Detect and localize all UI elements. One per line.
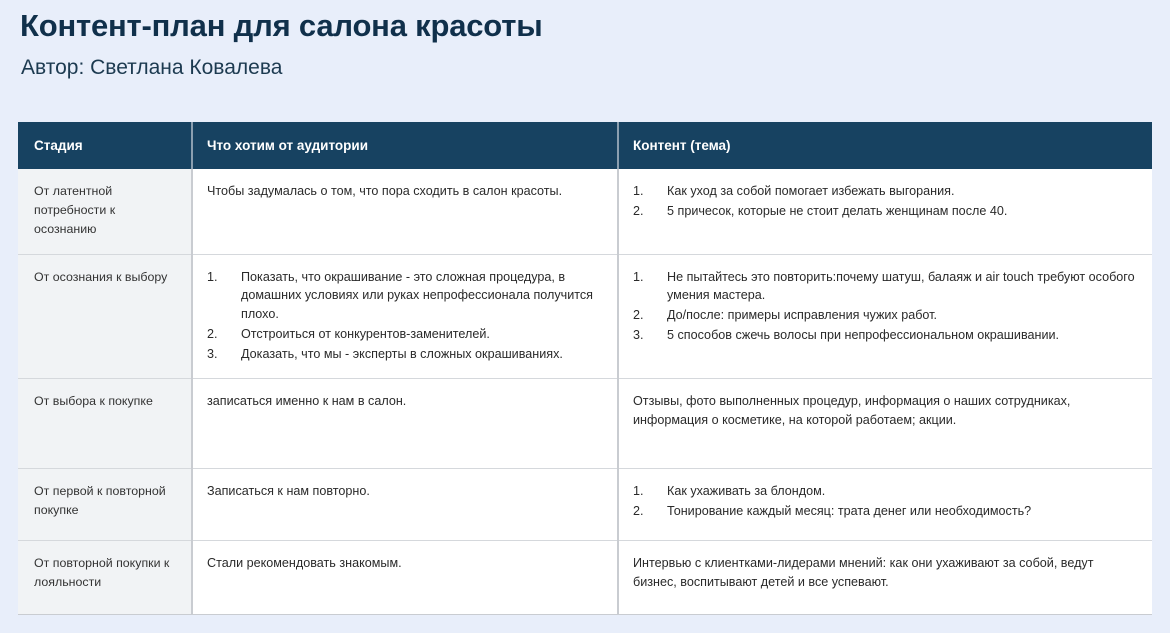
cell-want: Показать, что окрашивание - это сложная …	[192, 254, 618, 378]
content-plan-table-wrapper: Стадия Что хотим от аудитории Контент (т…	[18, 122, 1152, 615]
table-header: Стадия Что хотим от аудитории Контент (т…	[18, 122, 1152, 169]
table-row: От латентной потребности к осознанию Что…	[18, 169, 1152, 254]
table-row: От осознания к выбору Показать, что окра…	[18, 254, 1152, 378]
want-list: Показать, что окрашивание - это сложная …	[207, 268, 603, 364]
page-title: Контент-план для салона красоты	[20, 8, 543, 44]
list-item: Тонирование каждый месяц: трата денег ил…	[633, 502, 1138, 521]
cell-stage: От осознания к выбору	[18, 254, 192, 378]
list-item: Показать, что окрашивание - это сложная …	[207, 268, 603, 325]
list-item: Отстроиться от конкурентов-заменителей.	[207, 325, 603, 344]
cell-content: Не пытайтесь это повторить:почему шатуш,…	[618, 254, 1152, 378]
content-list: Как уход за собой помогает избежать выго…	[633, 182, 1138, 221]
cell-content: Отзывы, фото выполненных процедур, инфор…	[618, 378, 1152, 468]
table-row: От первой к повторной покупке Записаться…	[18, 468, 1152, 540]
list-item: Доказать, что мы - эксперты в сложных ок…	[207, 345, 603, 364]
cell-want: записаться именно к нам в салон.	[192, 378, 618, 468]
cell-want: Стали рекомендовать знакомым.	[192, 540, 618, 614]
list-item: До/после: примеры исправления чужих рабо…	[633, 306, 1138, 325]
cell-stage: От латентной потребности к осознанию	[18, 169, 192, 254]
cell-content: Как уход за собой помогает избежать выго…	[618, 169, 1152, 254]
cell-want: Чтобы задумалась о том, что пора сходить…	[192, 169, 618, 254]
list-item: Не пытайтесь это повторить:почему шатуш,…	[633, 268, 1138, 306]
cell-stage: От выбора к покупке	[18, 378, 192, 468]
table-body: От латентной потребности к осознанию Что…	[18, 169, 1152, 614]
table-row: От выбора к покупке записаться именно к …	[18, 378, 1152, 468]
content-text: Интервью с клиентками-лидерами мнений: к…	[633, 554, 1138, 592]
list-item: Как ухаживать за блондом.	[633, 482, 1138, 501]
column-header-content: Контент (тема)	[618, 122, 1152, 169]
cell-want: Записаться к нам повторно.	[192, 468, 618, 540]
page-author: Автор: Светлана Ковалева	[21, 56, 282, 80]
content-list: Не пытайтесь это повторить:почему шатуш,…	[633, 268, 1138, 346]
list-item: Как уход за собой помогает избежать выго…	[633, 182, 1138, 201]
cell-stage: От повторной покупки к лояльности	[18, 540, 192, 614]
content-plan-table: Стадия Что хотим от аудитории Контент (т…	[18, 122, 1152, 615]
cell-stage: От первой к повторной покупке	[18, 468, 192, 540]
list-item: 5 способов сжечь волосы при непрофессион…	[633, 326, 1138, 345]
table-row: От повторной покупки к лояльности Стали …	[18, 540, 1152, 614]
column-header-stage: Стадия	[18, 122, 192, 169]
table-header-row: Стадия Что хотим от аудитории Контент (т…	[18, 122, 1152, 169]
content-text: Отзывы, фото выполненных процедур, инфор…	[633, 392, 1138, 430]
want-text: Записаться к нам повторно.	[207, 482, 603, 501]
cell-content: Интервью с клиентками-лидерами мнений: к…	[618, 540, 1152, 614]
content-list: Как ухаживать за блондом. Тонирование ка…	[633, 482, 1138, 521]
want-text: Стали рекомендовать знакомым.	[207, 554, 603, 573]
want-text: записаться именно к нам в салон.	[207, 392, 603, 411]
cell-content: Как ухаживать за блондом. Тонирование ка…	[618, 468, 1152, 540]
list-item: 5 причесок, которые не стоит делать женщ…	[633, 202, 1138, 221]
content-plan-page: Контент-план для салона красоты Автор: С…	[0, 0, 1170, 633]
want-text: Чтобы задумалась о том, что пора сходить…	[207, 182, 603, 201]
column-header-want: Что хотим от аудитории	[192, 122, 618, 169]
